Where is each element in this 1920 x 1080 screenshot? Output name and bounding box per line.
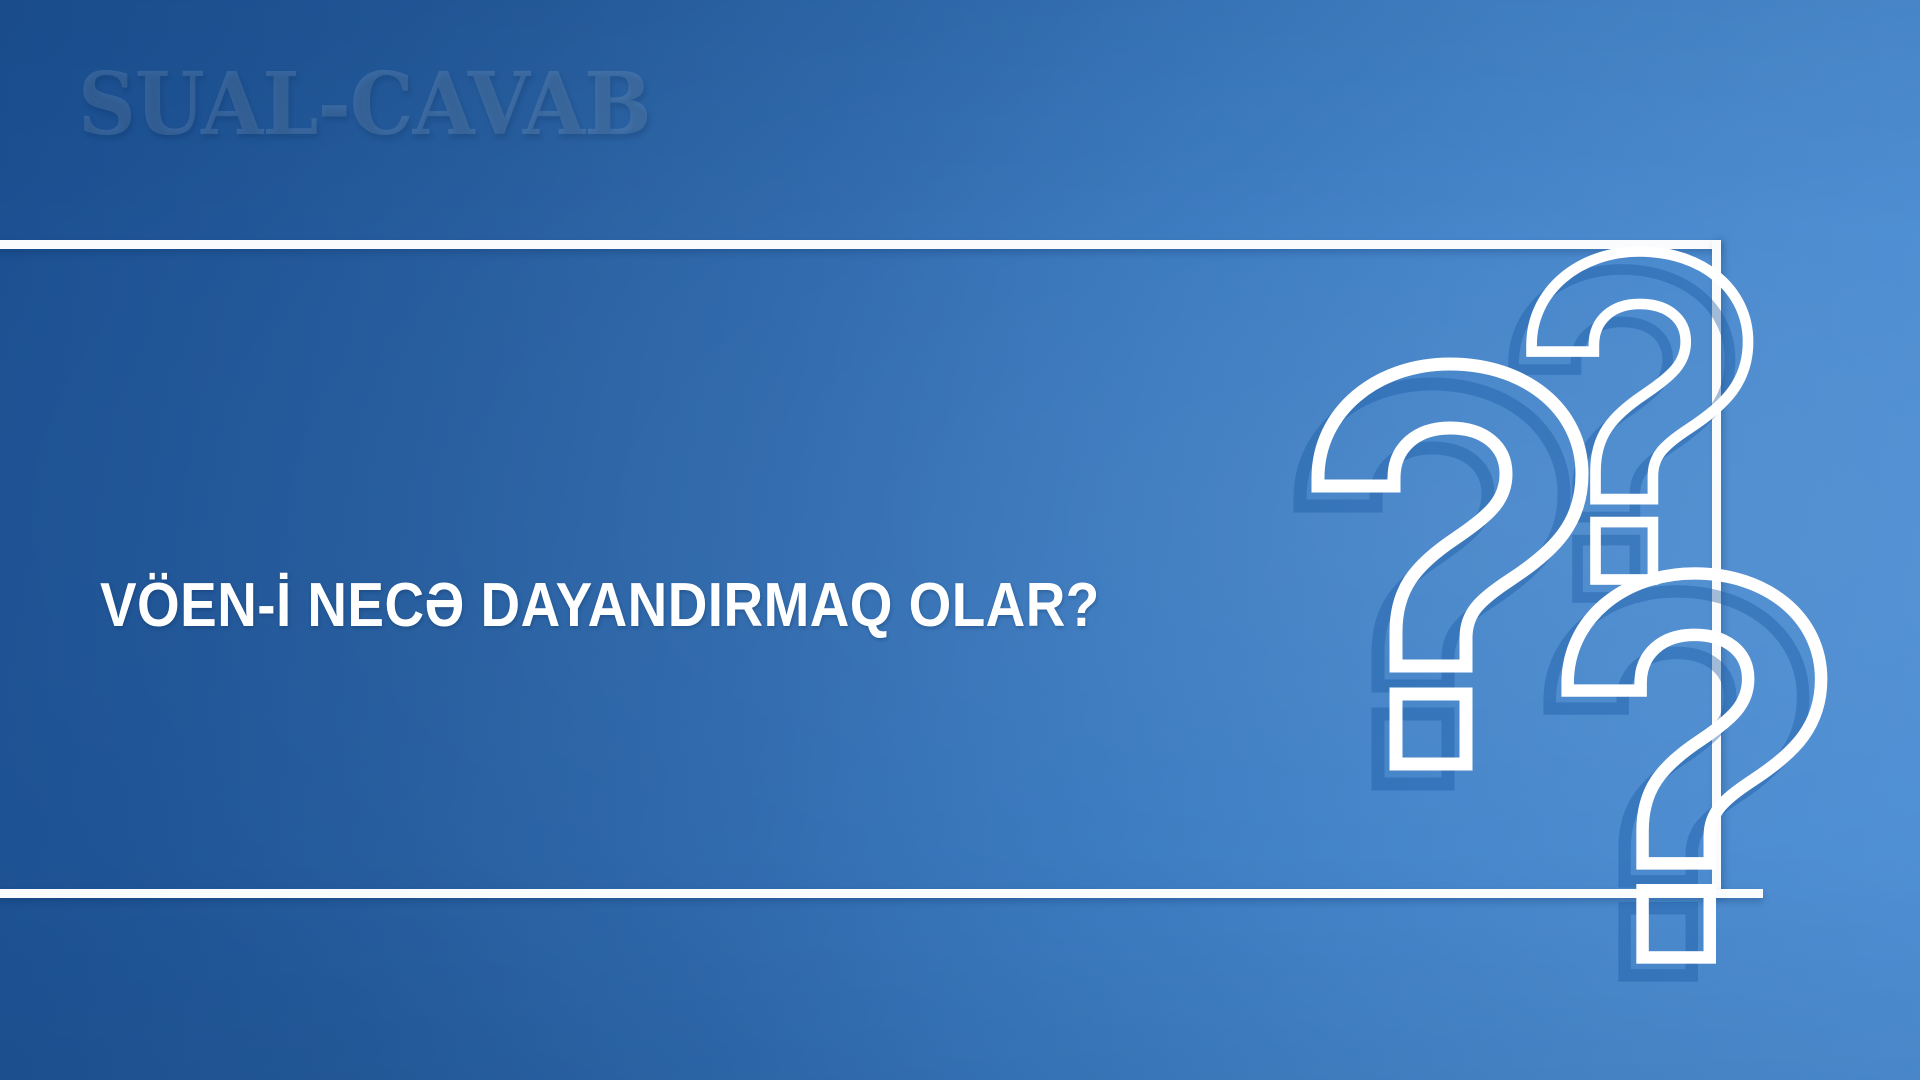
banner-canvas: SUAL-CAVAB [0, 0, 1920, 1080]
page-title: VÖEN-İ NECƏ DAYANDIRMAQ OLAR? [100, 575, 1100, 637]
question-mark-cluster [1310, 230, 1920, 930]
watermark-heading: SUAL-CAVAB [78, 62, 651, 148]
